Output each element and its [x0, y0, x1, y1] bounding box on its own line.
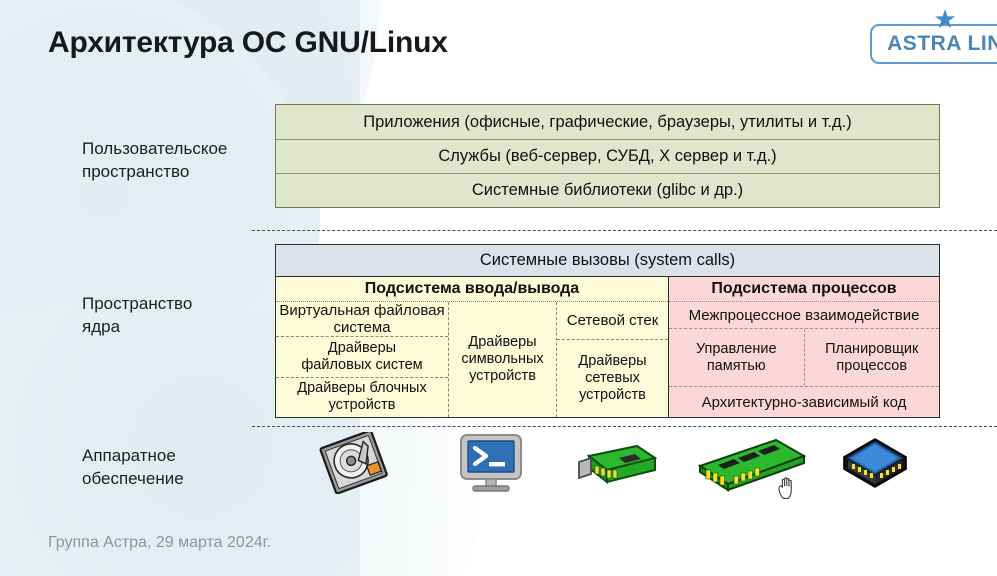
- cell-process-scheduler-line2: процессов: [825, 358, 918, 375]
- user-space-stack: Приложения (офисные, графические, браузе…: [275, 104, 940, 208]
- process-subsystem-body: Межпроцессное взаимодействие Управление …: [669, 302, 939, 417]
- cell-block-device-drivers-line2: устройств: [297, 397, 426, 414]
- process-subsystem: Подсистема процессов Межпроцессное взаим…: [668, 277, 939, 417]
- io-right-column: Сетевой стек Драйверы сетевых устройств: [556, 302, 668, 417]
- cell-process-scheduler-line1: Планировщик: [825, 341, 918, 358]
- cell-filesystem-drivers: Драйверы файловых систем: [276, 337, 448, 378]
- footer-text: Группа Астра, 29 марта 2024г.: [48, 534, 271, 552]
- hand-cursor: [776, 475, 798, 501]
- cell-network-device-drivers-line1: Драйверы: [578, 353, 646, 370]
- logo-text: ASTRA LIN: [887, 32, 997, 56]
- zone-label-hardware-line2: обеспечение: [82, 467, 184, 490]
- cell-filesystem-drivers-line2: файловых систем: [301, 357, 422, 374]
- kernel-subsystems-row: Подсистема ввода/вывода Виртуальная файл…: [276, 277, 939, 417]
- cell-block-device-drivers: Драйверы блочных устройств: [276, 378, 448, 418]
- user-space-row-services: Службы (веб-сервер, СУБД, X сервер и т.д…: [276, 139, 939, 173]
- monitor-icon: [455, 432, 527, 499]
- zone-label-kernel-space-line2: ядра: [82, 315, 192, 338]
- io-subsystem-body: Виртуальная файловая система Драйверы фа…: [276, 302, 668, 417]
- io-left-column: Виртуальная файловая система Драйверы фа…: [276, 302, 448, 417]
- background-blob-left: [0, 0, 320, 480]
- zone-label-user-space-line1: Пользовательское: [82, 137, 227, 160]
- star-icon: ★: [932, 6, 958, 32]
- cell-virtual-file-system: Виртуальная файловая система: [276, 302, 448, 337]
- zone-label-hardware-line1: Аппаратное: [82, 444, 184, 467]
- system-calls-bar: Системные вызовы (system calls): [276, 245, 939, 277]
- cell-inter-process-communication: Межпроцессное взаимодействие: [669, 302, 939, 329]
- zone-label-kernel-space: Пространство ядра: [82, 292, 192, 338]
- slide-canvas: Архитектура ОС GNU/Linux ASTRA LIN ★ Пол…: [0, 0, 997, 576]
- io-subsystem: Подсистема ввода/вывода Виртуальная файл…: [276, 277, 668, 417]
- io-subsystem-heading: Подсистема ввода/вывода: [276, 277, 668, 302]
- zone-label-user-space: Пользовательское пространство: [82, 137, 227, 183]
- cell-block-device-drivers-line1: Драйверы блочных: [297, 380, 426, 397]
- cell-memory-management-line2: памятью: [696, 358, 777, 375]
- network-card-icon: [575, 442, 661, 499]
- cell-network-device-drivers-line2: сетевых: [578, 370, 646, 387]
- cell-network-stack: Сетевой стек: [557, 302, 668, 340]
- cell-memory-management: Управление памятью: [669, 329, 804, 386]
- cell-process-scheduler: Планировщик процессов: [804, 329, 940, 386]
- cell-filesystem-drivers-line1: Драйверы: [301, 340, 422, 357]
- hard-disk-icon: [315, 432, 393, 499]
- user-space-row-libraries: Системные библиотеки (glibc и др.): [276, 173, 939, 207]
- cell-network-device-drivers-line3: устройств: [578, 387, 646, 404]
- zone-label-user-space-line2: пространство: [82, 160, 227, 183]
- divider-user-kernel: [252, 230, 997, 231]
- process-subsystem-heading: Подсистема процессов: [669, 277, 939, 302]
- cpu-chip-icon: [840, 436, 910, 497]
- cell-network-device-drivers: Драйверы сетевых устройств: [557, 340, 668, 417]
- cell-memory-management-line1: Управление: [696, 341, 777, 358]
- cell-character-device-drivers-line1: Драйверы: [461, 334, 543, 351]
- cell-character-device-drivers-line2: символьных: [461, 351, 543, 368]
- process-subsystem-middle-row: Управление памятью Планировщик процессов: [669, 329, 939, 387]
- user-space-row-applications: Приложения (офисные, графические, браузе…: [276, 105, 939, 139]
- divider-kernel-hardware: [252, 426, 997, 427]
- zone-label-hardware: Аппаратное обеспечение: [82, 444, 184, 490]
- kernel-space-block: Системные вызовы (system calls) Подсисте…: [275, 244, 940, 418]
- hardware-icons-row: [275, 432, 940, 494]
- page-title: Архитектура ОС GNU/Linux: [48, 26, 448, 60]
- cell-character-device-drivers-line3: устройств: [461, 368, 543, 385]
- cell-architecture-dependent-code: Архитектурно-зависимый код: [669, 387, 939, 417]
- zone-label-kernel-space-line1: Пространство: [82, 292, 192, 315]
- cell-character-device-drivers: Драйверы символьных устройств: [448, 302, 556, 417]
